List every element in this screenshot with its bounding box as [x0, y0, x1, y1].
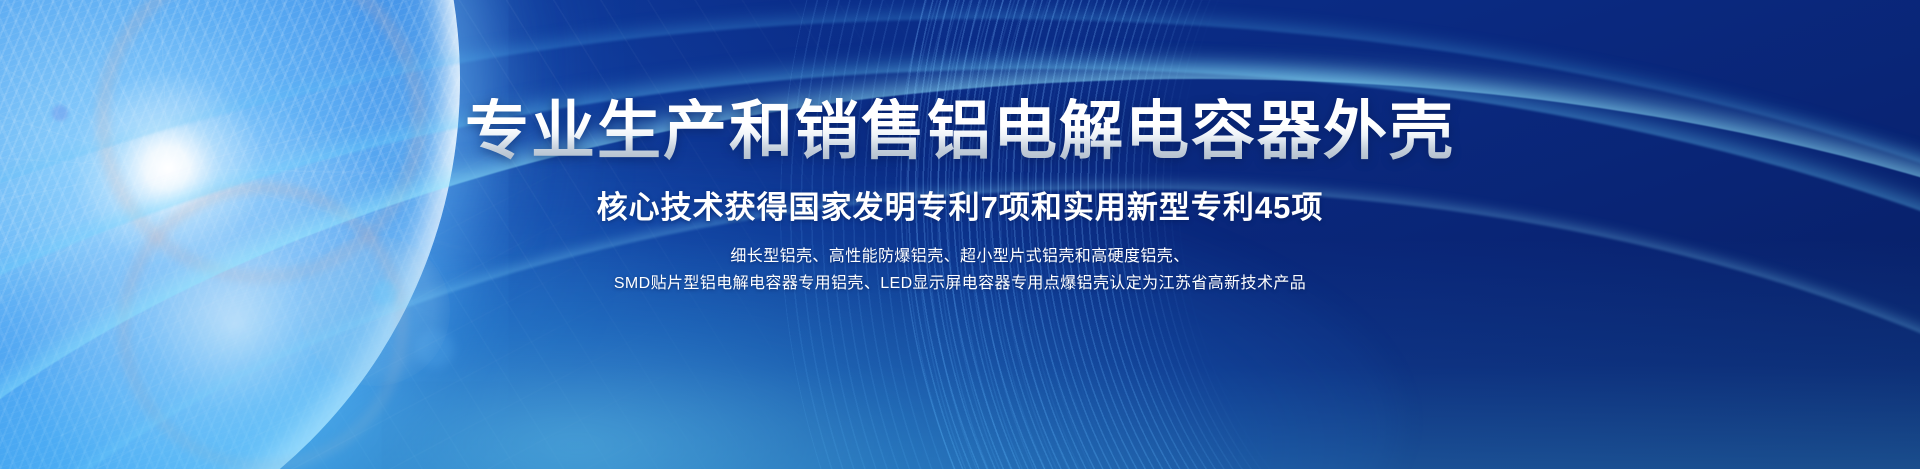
banner-description: 细长型铝壳、高性能防爆铝壳、超小型片式铝壳和高硬度铝壳、 SMD贴片型铝电解电容… — [614, 244, 1306, 297]
banner-content: 专业生产和销售铝电解电容器外壳 核心技术获得国家发明专利7项和实用新型专利45项… — [0, 0, 1920, 469]
hero-banner: 专业生产和销售铝电解电容器外壳 核心技术获得国家发明专利7项和实用新型专利45项… — [0, 0, 1920, 469]
banner-description-line-1: 细长型铝壳、高性能防爆铝壳、超小型片式铝壳和高硬度铝壳、 — [614, 244, 1306, 270]
banner-subheadline: 核心技术获得国家发明专利7项和实用新型专利45项 — [597, 189, 1324, 226]
banner-headline: 专业生产和销售铝电解电容器外壳 — [465, 98, 1455, 165]
banner-description-line-2: SMD贴片型铝电解电容器专用铝壳、LED显示屏电容器专用点爆铝壳认定为江苏省高新… — [614, 271, 1306, 297]
